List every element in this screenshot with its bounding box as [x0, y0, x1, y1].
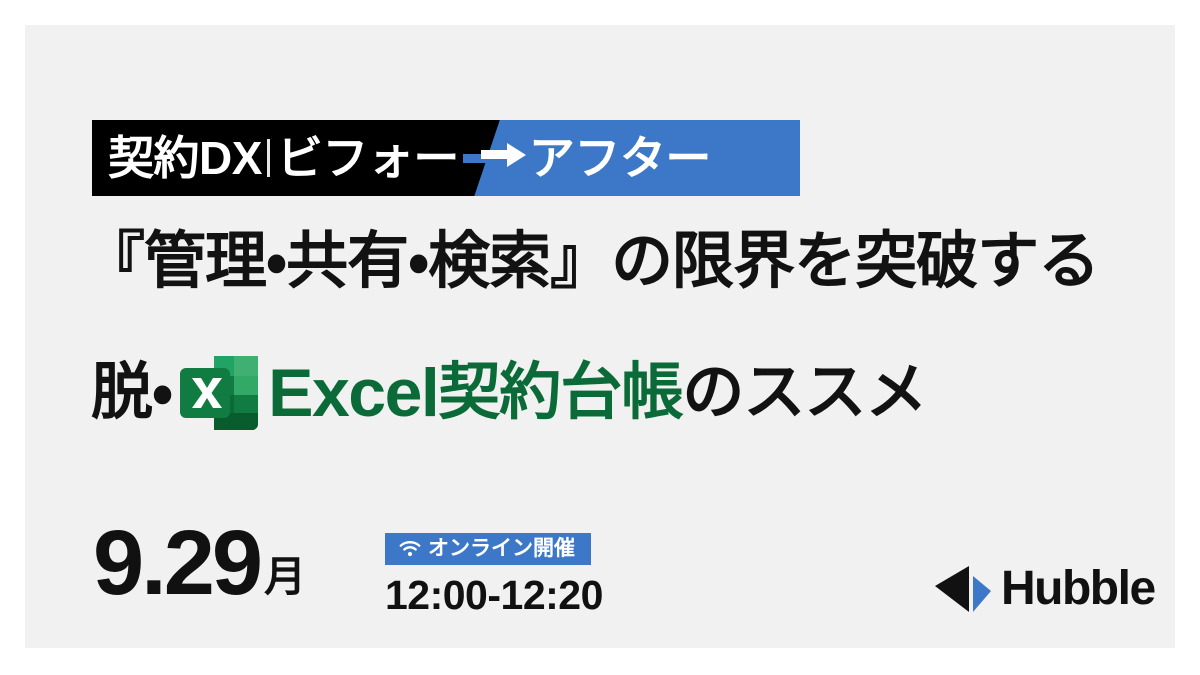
- headline-green-keiyaku-daicho: 契約台帳: [438, 362, 682, 424]
- headline-line-2: 脱・ Excel 契約台帳 のス: [91, 345, 926, 441]
- hubble-wordmark: Hubble: [1001, 565, 1155, 613]
- arrow-right-icon: [463, 143, 527, 173]
- online-badge-label: オンライン開催: [428, 538, 575, 559]
- eyebrow-text-row: 契約DX ビフォー アフター: [92, 120, 800, 196]
- eyebrow-label-after: アフター: [529, 135, 711, 181]
- eyebrow-label-contract-dx: 契約DX: [108, 135, 262, 181]
- arrow-head: [507, 143, 526, 167]
- excel-logo-icon: [178, 350, 260, 436]
- headline-suffix-nosusume: のススメ: [682, 362, 926, 424]
- date-number: 9.29: [93, 523, 260, 604]
- date-day-of-week: 月: [264, 556, 306, 598]
- eyebrow-band: 契約DX ビフォー アフター: [92, 120, 800, 196]
- eyebrow-label-before: ビフォー: [277, 135, 459, 181]
- wifi-icon: [399, 540, 421, 557]
- hubble-triangle-mark-icon: [933, 563, 995, 615]
- webinar-banner: 契約DX ビフォー アフター 『管理・共有・検索』の限界を突破する 脱・: [0, 0, 1200, 675]
- headline-line-1: 『管理・共有・検索』の限界を突破する: [83, 229, 1173, 294]
- event-time-range: 12:00-12:20: [385, 575, 603, 616]
- event-time-block: オンライン開催 12:00-12:20: [385, 533, 603, 616]
- eyebrow-separator-icon: [267, 139, 270, 177]
- event-date: 9.29 月: [93, 523, 306, 604]
- headline-prefix-datsu: 脱・: [91, 362, 172, 424]
- banner-panel: 契約DX ビフォー アフター 『管理・共有・検索』の限界を突破する 脱・: [25, 25, 1175, 648]
- hubble-logo: Hubble: [933, 563, 1155, 615]
- headline-brand-excel: Excel: [268, 359, 438, 427]
- online-event-badge: オンライン開催: [385, 533, 591, 565]
